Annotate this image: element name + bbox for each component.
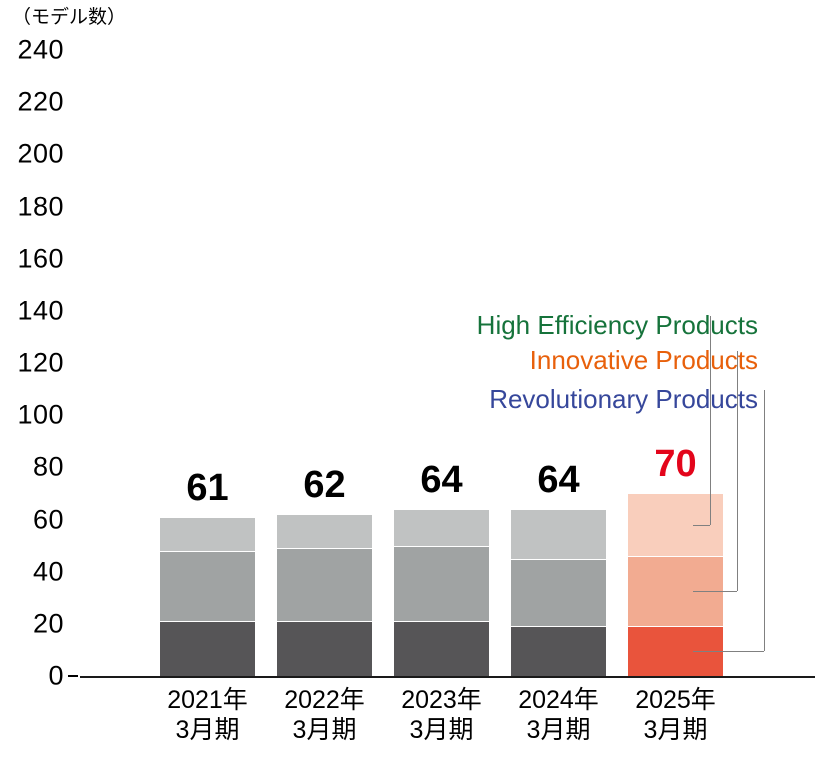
bar-segment-revolutionary-products bbox=[277, 621, 372, 676]
bar-segment-revolutionary-products bbox=[394, 621, 489, 676]
bar-segment-revolutionary-products bbox=[511, 626, 606, 676]
bar-total-label: 70 bbox=[606, 445, 746, 483]
y-axis: 020406080100120140160180200220240 bbox=[0, 0, 78, 766]
y-axis-tick-label: 160 bbox=[17, 245, 64, 272]
bar-column bbox=[394, 50, 489, 676]
x-axis-baseline bbox=[80, 676, 815, 678]
bar-segment-high-efficiency-products bbox=[394, 509, 489, 546]
y-axis-tick-label: 220 bbox=[17, 89, 64, 116]
legend-leader-line-vertical bbox=[764, 390, 765, 651]
legend-leader-line-horizontal bbox=[693, 591, 737, 592]
bar-segment-revolutionary-products bbox=[160, 621, 255, 676]
legend-leader-line-horizontal bbox=[693, 651, 764, 652]
y-axis-tick-label: 20 bbox=[33, 610, 64, 637]
y-axis-tick-label: 140 bbox=[17, 297, 64, 324]
x-axis-category-line: 2025年 bbox=[601, 686, 751, 716]
bar-column bbox=[277, 50, 372, 676]
bar-segment-high-efficiency-products bbox=[160, 517, 255, 551]
stacked-bar-chart: （モデル数） 020406080100120140160180200220240… bbox=[0, 0, 817, 766]
bar-segment-innovative-products bbox=[277, 548, 372, 621]
y-axis-zero-tick-mark bbox=[68, 675, 78, 677]
y-axis-tick-label: 0 bbox=[48, 663, 64, 690]
bar-segment-high-efficiency-products bbox=[277, 514, 372, 548]
y-axis-tick-label: 80 bbox=[33, 454, 64, 481]
bar-segment-high-efficiency-products bbox=[511, 509, 606, 559]
y-axis-tick-label: 40 bbox=[33, 558, 64, 585]
bar-column bbox=[160, 50, 255, 676]
x-axis-category-line: 3月期 bbox=[601, 716, 751, 746]
bar-segment-innovative-products bbox=[511, 559, 606, 627]
y-axis-tick-label: 60 bbox=[33, 506, 64, 533]
y-axis-tick-label: 120 bbox=[17, 350, 64, 377]
y-axis-tick-label: 240 bbox=[17, 37, 64, 64]
legend-label-revolutionary-products: Revolutionary Products bbox=[489, 386, 758, 412]
x-axis-category-label: 2025年3月期 bbox=[601, 686, 751, 745]
y-axis-tick-label: 100 bbox=[17, 402, 64, 429]
bar-segment-innovative-products bbox=[160, 551, 255, 621]
legend-leader-line-horizontal bbox=[693, 525, 710, 526]
y-axis-tick-label: 180 bbox=[17, 193, 64, 220]
legend-label-innovative-products: Innovative Products bbox=[530, 347, 758, 373]
y-axis-tick-label: 200 bbox=[17, 141, 64, 168]
legend-label-high-efficiency-products: High Efficiency Products bbox=[477, 312, 758, 338]
bar-segment-innovative-products bbox=[394, 546, 489, 622]
